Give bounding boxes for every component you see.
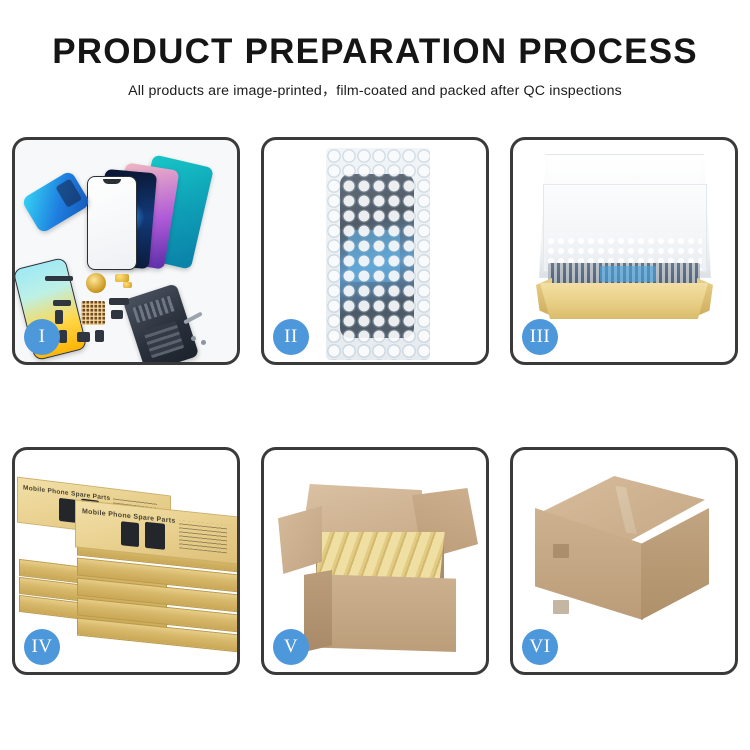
box-phone-graphic-1 bbox=[59, 498, 76, 523]
bubble-texture bbox=[326, 148, 430, 360]
step-badge-5: V bbox=[273, 629, 309, 665]
carton-flap-left bbox=[278, 506, 322, 574]
carton-handle-mark-1 bbox=[553, 544, 569, 558]
step-panel-2: II bbox=[261, 137, 489, 365]
flex-cable-part-1 bbox=[115, 274, 129, 282]
step-badge-3: III bbox=[522, 319, 558, 355]
screw-part-1 bbox=[191, 336, 196, 341]
bracket-part-1 bbox=[53, 300, 71, 306]
step-badge-4: IV bbox=[24, 629, 60, 665]
connector-part-2 bbox=[111, 310, 123, 319]
phone-screen-white bbox=[87, 176, 137, 270]
header: PRODUCT PREPARATION PROCESS All products… bbox=[0, 34, 750, 100]
flex-cable-part-2 bbox=[123, 282, 132, 288]
product-preparation-infographic: PRODUCT PREPARATION PROCESS All products… bbox=[0, 0, 750, 750]
carton-handle-mark-2 bbox=[553, 600, 569, 614]
speaker-coil-part bbox=[86, 273, 106, 293]
step-panel-1: I bbox=[12, 137, 240, 365]
step-badge-1: I bbox=[24, 319, 60, 355]
box-spec-lines bbox=[179, 520, 227, 553]
step-badge-2: II bbox=[273, 319, 309, 355]
step-panel-6: VI bbox=[510, 447, 738, 675]
bracket-part-2 bbox=[55, 310, 63, 324]
steps-grid: I II III bbox=[12, 137, 738, 675]
step-panel-4: Mobile Phone Spare Parts Mobile Phone Sp… bbox=[12, 447, 240, 675]
box-front-wall bbox=[540, 283, 708, 319]
camera-part bbox=[95, 330, 104, 342]
phone-screen-blue bbox=[21, 170, 91, 234]
connector-part-1 bbox=[109, 298, 129, 305]
bubble-wrap-sleeve bbox=[326, 148, 430, 360]
step-panel-3: III bbox=[510, 137, 738, 365]
page-subtitle: All products are image-printed，film-coat… bbox=[0, 80, 750, 100]
antenna-strip-part bbox=[45, 276, 73, 281]
page-title: PRODUCT PREPARATION PROCESS bbox=[0, 34, 750, 71]
button-part bbox=[59, 330, 67, 343]
speaker-part bbox=[77, 332, 90, 342]
step-badge-6: VI bbox=[522, 629, 558, 665]
box-phone-graphic-1 bbox=[121, 521, 139, 547]
screw-part-2 bbox=[201, 340, 206, 345]
screwdriver-tool bbox=[183, 312, 203, 325]
carton-left-face bbox=[304, 570, 332, 652]
circuit-grid-part bbox=[81, 301, 105, 325]
box-phone-graphic-2 bbox=[145, 522, 165, 550]
step-panel-5: V bbox=[261, 447, 489, 675]
